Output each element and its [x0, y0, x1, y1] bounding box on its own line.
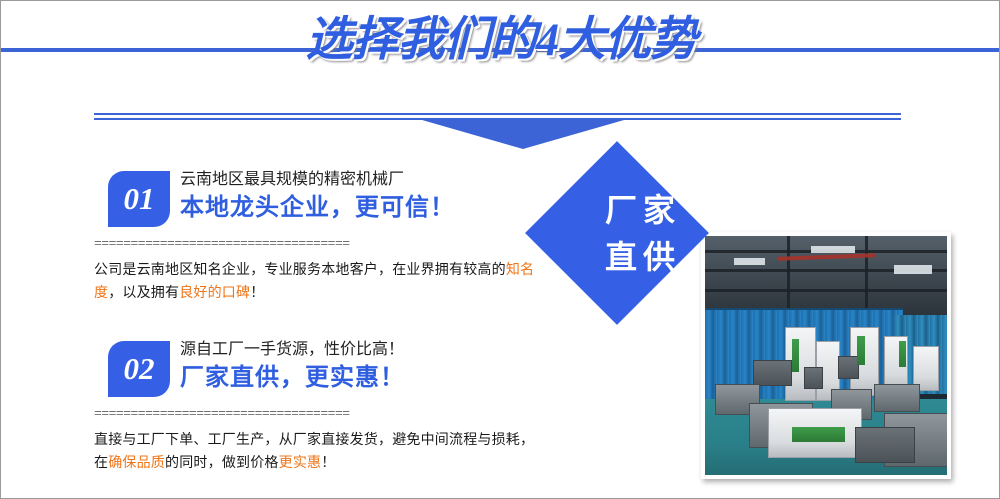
- photo-column: [787, 236, 790, 310]
- advantage-body-02: 直接与工厂下单、工厂生产，从厂家直接发货，避免中间流程与损耗，在确保品质的同时，…: [94, 428, 546, 474]
- promo-banner: 选择我们的4大优势 01 云南地区最具规模的精密机械厂 本地龙头企业，更可信！ …: [0, 0, 1000, 499]
- advantage-headline-02: 厂家直供，更实惠！: [180, 361, 560, 395]
- diamond-label-line2: 直供: [552, 234, 728, 281]
- badge-number-01: 01: [108, 171, 170, 227]
- highlighted-text: 良好的口碑: [179, 284, 250, 300]
- photo-green-rail: [792, 427, 845, 441]
- photo-skylight: [734, 258, 765, 265]
- advantage-body-01: 公司是云南地区知名企业，专业服务本地客户，在业界拥有较高的知名度，以及拥有良好的…: [94, 258, 546, 304]
- photo-machine-head: [838, 356, 859, 380]
- badge-number-02: 02: [108, 341, 170, 397]
- advantage-header-02: 02 源自工厂一手货源，性价比高！ 厂家直供，更实惠！: [94, 339, 564, 401]
- photo-beam: [705, 289, 947, 292]
- body-text-run: ！: [250, 284, 264, 300]
- body-text-run: 的同时，做到价格: [165, 454, 279, 470]
- advantage-headings-01: 云南地区最具规模的精密机械厂 本地龙头企业，更可信！: [180, 169, 560, 225]
- diamond-badge-label: 厂家 直供: [552, 187, 728, 281]
- photo-column: [865, 236, 868, 310]
- body-text-run: 公司是云南地区知名企业，专业服务本地客户，在业界拥有较高的: [94, 261, 506, 277]
- highlighted-text: 确保品质: [108, 454, 165, 470]
- photo-machine-rail: [899, 341, 906, 367]
- body-text-run: ，以及拥有: [108, 284, 179, 300]
- factory-photo-frame: [701, 232, 951, 479]
- advantage-block-01: 01 云南地区最具规模的精密机械厂 本地龙头企业，更可信！ ==========…: [94, 169, 564, 304]
- photo-machine-base: [874, 384, 920, 412]
- advantage-subtitle-02: 源自工厂一手货源，性价比高！: [180, 339, 560, 361]
- header: 选择我们的4大优势: [1, 1, 1000, 97]
- advantage-block-02: 02 源自工厂一手货源，性价比高！ 厂家直供，更实惠！ ============…: [94, 339, 564, 474]
- dashed-rule-01: ===================================: [94, 237, 534, 251]
- advantage-headline-01: 本地龙头企业，更可信！: [180, 191, 560, 225]
- factory-photo: [705, 236, 947, 475]
- photo-machine-base: [855, 427, 915, 462]
- photo-machine-rail: [857, 336, 864, 365]
- advantage-header-01: 01 云南地区最具规模的精密机械厂 本地龙头企业，更可信！: [94, 169, 564, 231]
- divider-line-top: [94, 113, 901, 115]
- highlighted-text: 更实惠: [279, 454, 322, 470]
- page-title: 选择我们的4大优势: [1, 9, 1000, 71]
- advantage-headings-02: 源自工厂一手货源，性价比高！ 厂家直供，更实惠！: [180, 339, 560, 395]
- photo-machine-head: [753, 360, 791, 386]
- advantage-subtitle-01: 云南地区最具规模的精密机械厂: [180, 169, 560, 191]
- photo-machine-head: [804, 367, 823, 388]
- photo-skylight: [811, 246, 855, 253]
- photo-machine-rail: [792, 339, 799, 372]
- diamond-label-line1: 厂家: [552, 187, 728, 234]
- dashed-rule-02: ===================================: [94, 407, 534, 421]
- chevron-down-icon: [422, 120, 624, 149]
- body-text-run: ！: [321, 454, 335, 470]
- photo-skylight: [894, 265, 933, 275]
- section-divider: [94, 113, 901, 145]
